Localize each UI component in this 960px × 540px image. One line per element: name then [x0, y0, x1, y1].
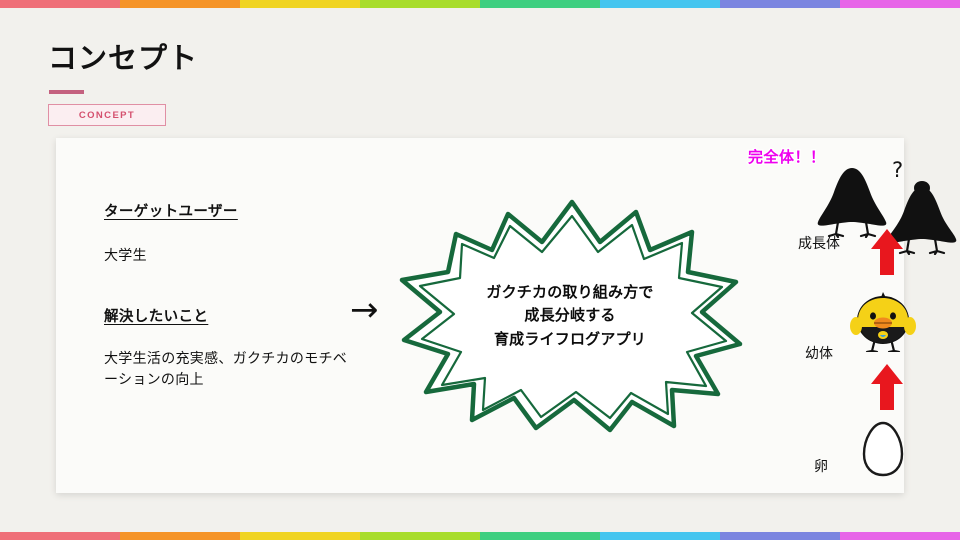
rainbow-band — [240, 532, 360, 540]
rainbow-band — [720, 0, 840, 8]
rainbow-band — [240, 0, 360, 8]
slide-root: コンセプト CONCEPT ターゲットユーザー 大学生 解決したいこと 大学生活… — [0, 0, 960, 540]
rainbow-band — [120, 0, 240, 8]
concept-badge-label: CONCEPT — [79, 110, 135, 121]
concept-badge: CONCEPT — [48, 104, 166, 126]
stage-egg-label: 卵 — [814, 456, 828, 476]
problem-value: 大学生活の充実感、ガクチカのモチベーションの向上 — [104, 348, 354, 391]
left-text-column: ターゲットユーザー 大学生 解決したいこと 大学生活の充実感、ガクチカのモチベー… — [104, 200, 354, 391]
question-mark-label: ? — [892, 158, 903, 182]
right-arrow-icon: → — [350, 293, 379, 327]
rainbow-band — [360, 0, 480, 8]
content-card: ターゲットユーザー 大学生 解決したいこと 大学生活の充実感、ガクチカのモチベー… — [56, 138, 904, 493]
rainbow-band — [600, 0, 720, 8]
rainbow-band — [0, 532, 120, 540]
target-user-heading: ターゲットユーザー — [104, 200, 354, 221]
egg-icon — [859, 420, 907, 478]
stage-young-label: 幼体 — [805, 343, 833, 363]
rainbow-band — [0, 0, 120, 8]
target-user-value: 大学生 — [104, 245, 354, 267]
starburst-line-3: 育成ライフログアプリ — [494, 328, 646, 351]
arrow-up-icon — [870, 228, 904, 276]
rainbow-band — [840, 0, 960, 8]
rainbow-band — [600, 532, 720, 540]
rainbow-bar-bottom — [0, 532, 960, 540]
starburst-line-2: 成長分岐する — [524, 304, 615, 327]
title-underline-rule — [49, 90, 84, 94]
chick-icon — [847, 290, 919, 352]
rainbow-bar-top — [0, 0, 960, 8]
arrow-up-icon — [870, 363, 904, 411]
final-form-label: 完全体！！ — [748, 146, 826, 167]
evolution-column: 完全体！！ ? 成長体 — [672, 138, 904, 493]
rainbow-band — [360, 532, 480, 540]
problem-heading: 解決したいこと — [104, 305, 354, 326]
rainbow-band — [720, 532, 840, 540]
rainbow-band — [480, 532, 600, 540]
page-title: コンセプト — [48, 44, 198, 76]
rainbow-band — [120, 532, 240, 540]
rainbow-band — [840, 532, 960, 540]
starburst-line-1: ガクチカの取り組み方で — [486, 281, 653, 304]
rainbow-band — [480, 0, 600, 8]
stage-grown-label: 成長体 — [798, 233, 840, 253]
